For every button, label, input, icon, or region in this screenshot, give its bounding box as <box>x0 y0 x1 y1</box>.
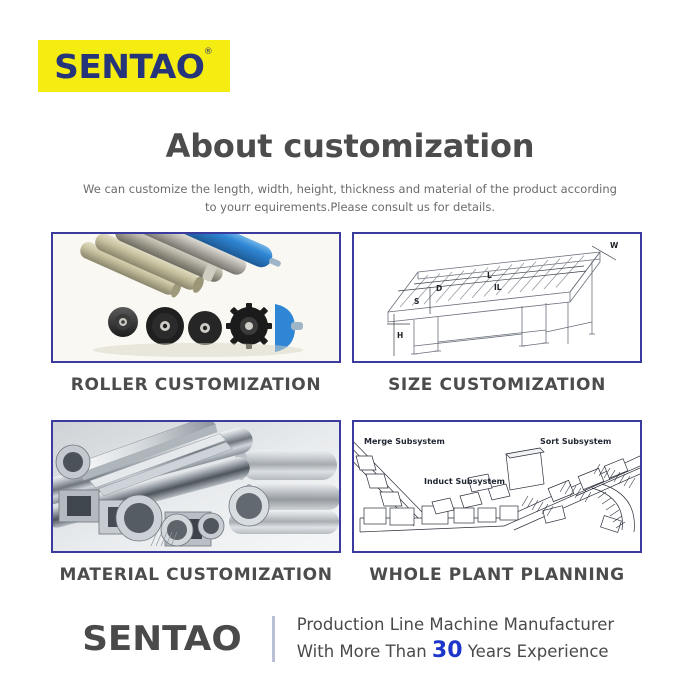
card-plant-caption: WHOLE PLANT PLANNING <box>352 565 642 585</box>
brand-logo-badge: SENTAO ® <box>38 40 230 92</box>
card-plant-image: Merge Subsystem Induct Subsystem Sort Su… <box>352 420 642 553</box>
rollers-illustration <box>53 234 339 361</box>
card-size-customization: L IL W D S H SIZE CUSTOMIZATION <box>352 232 642 395</box>
annotation-sort-subsystem: Sort Subsystem <box>540 437 611 446</box>
dimension-label-S: S <box>414 297 419 306</box>
dimension-label-W: W <box>610 241 619 250</box>
card-roller-caption: ROLLER CUSTOMIZATION <box>51 375 341 395</box>
footer-bar: SENTAO Production Line Machine Manufactu… <box>0 612 700 665</box>
footer-wordmark: SENTAO <box>82 622 242 656</box>
card-roller-customization: ROLLER CUSTOMIZATION <box>51 232 341 395</box>
footer-divider <box>272 616 275 662</box>
annotation-induct-subsystem: Induct Subsystem <box>424 477 505 486</box>
footer-tagline-line2-before: With More Than <box>297 642 432 661</box>
footer-tagline-line2-after: Years Experience <box>463 642 609 661</box>
about-customization-page: SENTAO ® About customization We can cust… <box>0 0 700 700</box>
card-roller-image <box>51 232 341 363</box>
card-whole-plant-planning: Merge Subsystem Induct Subsystem Sort Su… <box>352 420 642 585</box>
dimension-label-H: H <box>397 331 403 340</box>
card-size-caption: SIZE CUSTOMIZATION <box>352 375 642 395</box>
brand-logo-text: SENTAO <box>52 50 204 83</box>
card-material-image <box>51 420 341 553</box>
plant-layout-drawing: Merge Subsystem Induct Subsystem Sort Su… <box>354 422 640 551</box>
page-title: About customization <box>0 127 700 165</box>
registered-trademark-icon: ® <box>204 47 213 57</box>
page-subtitle: We can customize the length, width, heig… <box>80 180 620 216</box>
card-material-caption: MATERIAL CUSTOMIZATION <box>51 565 341 585</box>
dimension-label-D: D <box>436 284 442 293</box>
annotation-merge-subsystem: Merge Subsystem <box>364 437 445 446</box>
footer-years-highlight: 30 <box>432 638 463 663</box>
card-size-image: L IL W D S H <box>352 232 642 363</box>
footer-tagline: Production Line Machine Manufacturer Wit… <box>297 612 615 665</box>
conveyor-dimension-drawing: L IL W D S H <box>354 234 640 361</box>
card-material-customization: MATERIAL CUSTOMIZATION <box>51 420 341 585</box>
dimension-label-L: L <box>487 271 492 280</box>
steel-profiles-illustration <box>53 422 339 551</box>
footer-tagline-line1: Production Line Machine Manufacturer <box>297 615 615 634</box>
dimension-label-IL: IL <box>494 283 502 292</box>
